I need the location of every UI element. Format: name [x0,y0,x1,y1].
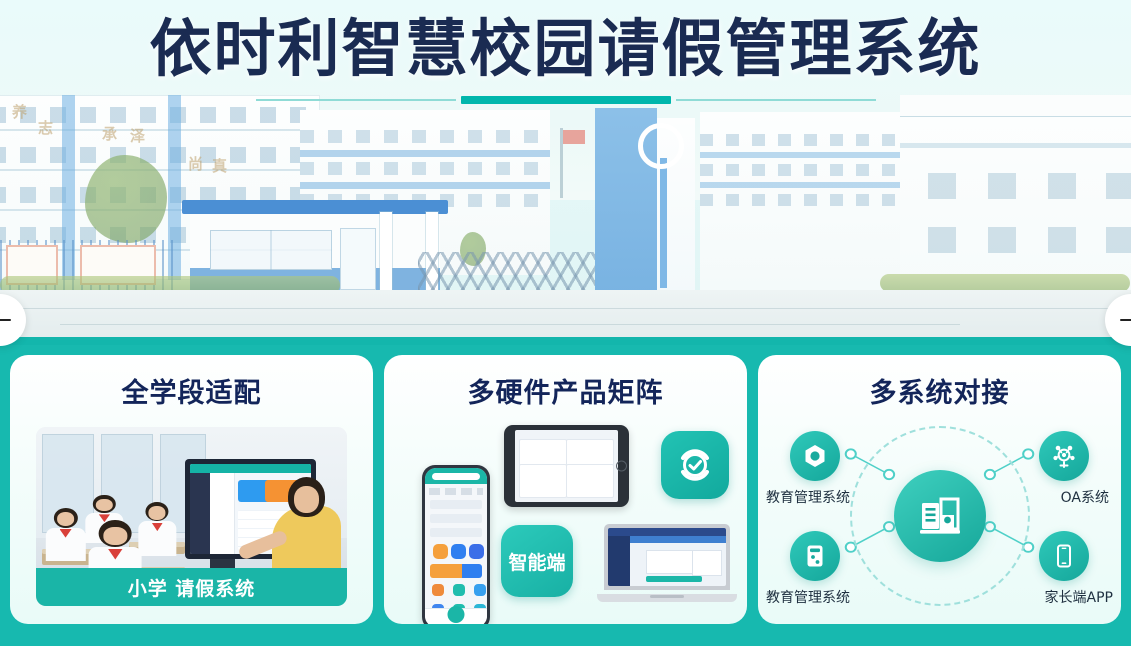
attendance-app-icon [661,431,729,499]
hexagon-core-icon [802,443,828,469]
feature-cards: 全学段适配 [0,345,1131,646]
node-education-management-bottom[interactable] [790,531,840,581]
feature-card-system-integration[interactable]: 多系统对接 [758,355,1121,624]
gate-tower-stripe [660,158,667,288]
arrow-right-icon [1120,311,1131,329]
feature-card-hardware-matrix[interactable]: 多硬件产品矩阵 [384,355,747,624]
node-label: 教育管理系统 [766,587,850,607]
page-title: 依时利智慧校园请假管理系统 [0,10,1131,88]
node-label: 家长端APP [1045,587,1113,607]
mobile-phone-mockup [422,465,490,624]
classroom-photo: 小学 请假系统 [36,427,347,606]
tree-left [85,155,167,243]
platform-building-icon [915,491,965,541]
check-badge-icon [675,445,715,485]
card-title: 多硬件产品矩阵 [384,355,747,410]
student [139,502,176,556]
mobile-phone-icon [1051,543,1077,569]
device-showcase: 智能端 [384,413,747,616]
node-label: 教育管理系统 [766,487,850,507]
card-caption: 小学 请假系统 [36,568,347,606]
building-far-right [900,95,1131,293]
smart-terminal-tile: 智能端 [501,525,573,597]
node-label: OA系统 [1061,487,1109,507]
flag [563,130,585,144]
hero-title-wrap: 依时利智慧校园请假管理系统 [0,10,1131,106]
server-device-icon [802,543,828,569]
school-emblem-ring [638,123,684,169]
node-oa-system[interactable] [1039,431,1089,481]
tablet-mockup [504,425,629,507]
building-right [700,112,900,292]
node-education-management-top[interactable] [790,431,840,481]
card-title: 全学段适配 [10,355,373,410]
central-platform-icon [894,470,986,562]
retractable-gate [418,252,598,292]
card-title: 多系统对接 [758,355,1121,410]
banner-bottom-band [0,337,1131,345]
teacher-face [294,486,319,513]
feature-card-all-stages[interactable]: 全学段适配 [10,355,373,624]
student [45,508,85,562]
title-underline [256,94,876,106]
integration-diagram: 教育管理系统 OA系统 [758,413,1121,618]
node-parent-app[interactable] [1039,531,1089,581]
network-gear-icon [1050,442,1078,470]
arrow-left-icon [0,311,11,329]
promo-page: 养 志 承 泽 尚 真 [0,0,1131,646]
laptop-mockup [597,524,737,602]
hero-banner: 养 志 承 泽 尚 真 [0,0,1131,345]
